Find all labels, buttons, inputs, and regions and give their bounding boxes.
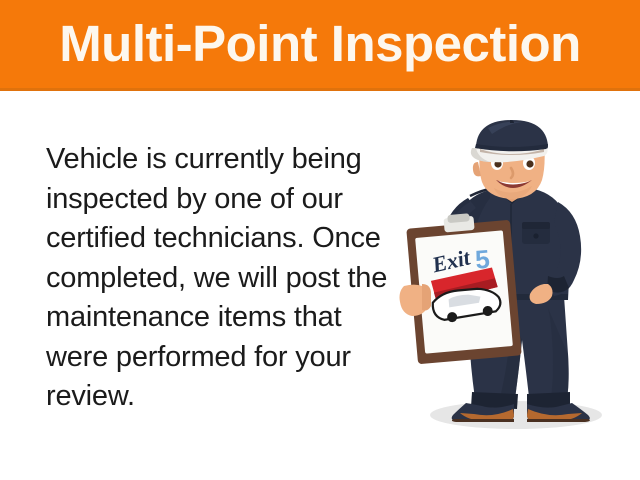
chest-pocket-flap-icon — [522, 222, 550, 229]
left-hand-thumb-icon — [422, 284, 431, 311]
page-title: Multi-Point Inspection — [0, 0, 640, 88]
mechanic-illustration: Exit 5 — [398, 118, 640, 440]
right-pupil-icon — [526, 160, 533, 167]
logo-wordmark-number: 5 — [474, 244, 491, 275]
pocket-button-icon — [533, 233, 538, 238]
slide-canvas: Multi-Point Inspection Vehicle is curren… — [0, 0, 640, 480]
clipboard-icon: Exit 5 — [400, 213, 522, 364]
header-banner: Multi-Point Inspection — [0, 0, 640, 91]
body-paragraph: Vehicle is currently being inspected by … — [46, 140, 404, 417]
